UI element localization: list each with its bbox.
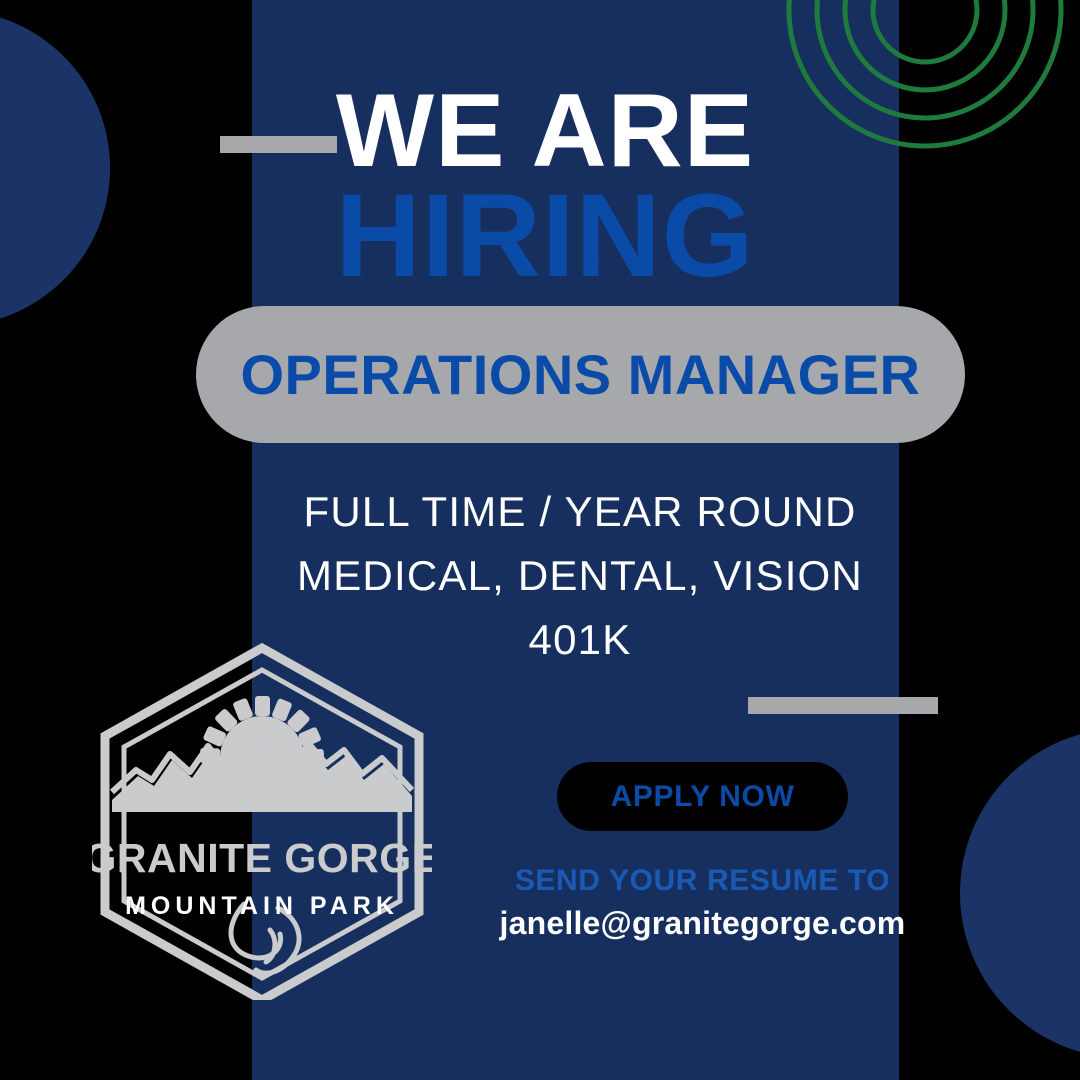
headline: WE ARE HIRING — [0, 84, 1080, 293]
hiring-poster: WE ARE HIRING OPERATIONS MANAGER FULL TI… — [0, 0, 1080, 1080]
dash-right-icon — [748, 697, 938, 714]
benefit-item: MEDICAL, DENTAL, VISION — [200, 544, 960, 608]
logo-name-line-1: GRANITE GORGE — [92, 835, 432, 881]
role-title-label: OPERATIONS MANAGER — [241, 342, 921, 407]
role-title-pill: OPERATIONS MANAGER — [196, 306, 965, 443]
logo-name-line-2: MOUNTAIN PARK — [125, 892, 399, 920]
circle-bottom-right-icon — [960, 728, 1080, 1058]
benefit-item: FULL TIME / YEAR ROUND — [200, 480, 960, 544]
apply-now-label: APPLY NOW — [611, 780, 795, 814]
contact-email-link[interactable]: janelle@granitegorge.com — [430, 900, 975, 946]
resume-contact-block: SEND YOUR RESUME TO janelle@granitegorge… — [430, 862, 975, 946]
send-resume-label: SEND YOUR RESUME TO — [430, 862, 975, 900]
granite-gorge-logo: GRANITE GORGE MOUNTAIN PARK — [92, 640, 432, 1000]
headline-line-2: HIRING — [10, 180, 1080, 293]
headline-line-1: WE ARE — [10, 84, 1080, 180]
apply-now-button[interactable]: APPLY NOW — [557, 762, 848, 831]
